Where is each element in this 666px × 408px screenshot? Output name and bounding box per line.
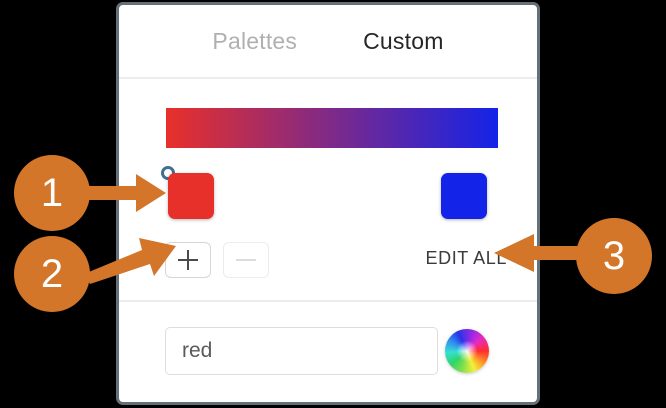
tab-bar: Palettes Custom: [119, 5, 537, 77]
color-value-row: [119, 323, 537, 383]
annotation-arrow-2: [84, 232, 176, 286]
minus-icon: [236, 250, 256, 270]
annotation-arrow-1: [84, 172, 166, 214]
color-stop-swatch-row: [119, 162, 537, 226]
tab-custom[interactable]: Custom: [363, 30, 443, 53]
end-color-chip: [441, 173, 487, 219]
divider-top: [119, 77, 537, 79]
annotation-arrow-3: [494, 232, 586, 274]
annotation-badge-2: 2: [14, 236, 90, 312]
plus-icon: [178, 250, 198, 270]
annotation-badge-3: 3: [576, 218, 652, 294]
color-wheel-icon[interactable]: [445, 329, 489, 373]
color-picker-panel: Palettes Custom: [116, 2, 540, 405]
annotation-badge-1: 1: [14, 155, 90, 231]
start-color-chip: [168, 173, 214, 219]
screenshot-stage: Palettes Custom: [0, 0, 666, 408]
color-name-input[interactable]: [165, 327, 438, 375]
divider-bottom: [119, 300, 537, 302]
gradient-preview-bar[interactable]: [166, 108, 498, 148]
tab-palettes[interactable]: Palettes: [212, 30, 297, 53]
color-stop-controls-row: EDIT ALL: [119, 238, 537, 288]
remove-color-stop-button[interactable]: [223, 242, 269, 278]
